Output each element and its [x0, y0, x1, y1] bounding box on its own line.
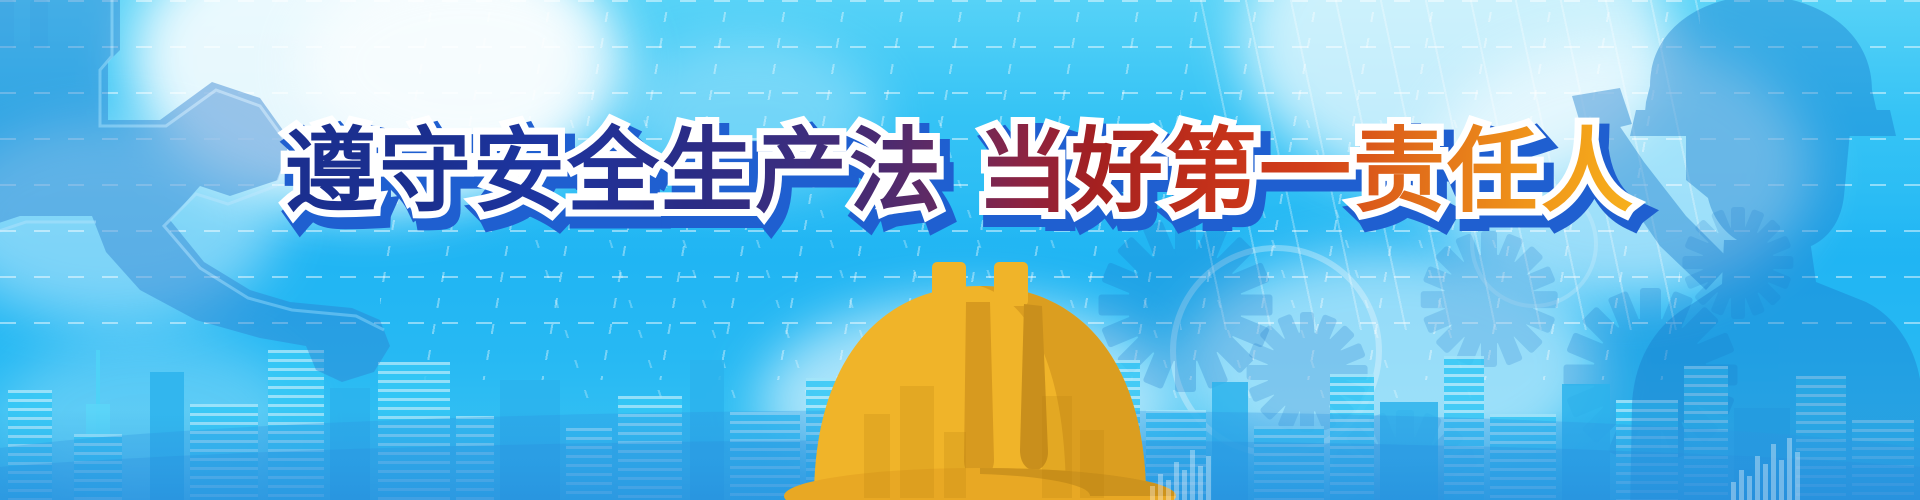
data-bar-chart-icon [1150, 440, 1211, 500]
headline-text-stack: 遵守安全生产法 当好第一责任人 遵守安全生产法 当好第一责任人 遵守安全生产法 … [285, 126, 1635, 218]
headline-fill-layer: 遵守安全生产法 当好第一责任人 [285, 118, 1635, 225]
safety-helmet-graphic [780, 246, 1180, 500]
headline-slogan: 遵守安全生产法 当好第一责任人 遵守安全生产法 当好第一责任人 遵守安全生产法 … [0, 112, 1920, 232]
data-bar-chart-icon [1731, 430, 1800, 500]
safety-poster-banner: 遵守安全生产法 当好第一责任人 遵守安全生产法 当好第一责任人 遵守安全生产法 … [0, 0, 1920, 500]
